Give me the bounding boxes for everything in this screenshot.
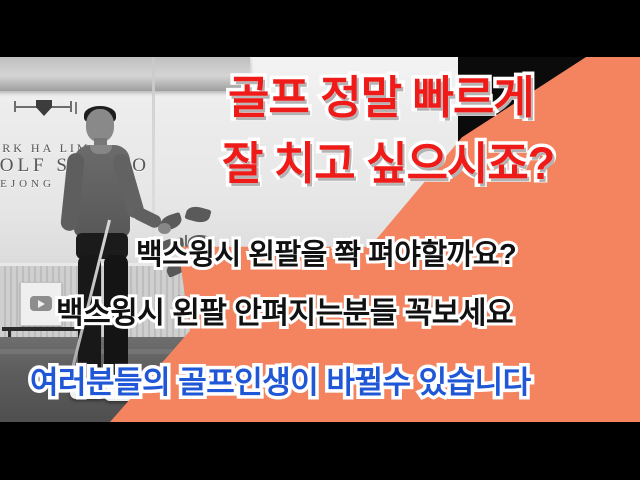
headline-line-1: 골프 정말 빠르게 (228, 75, 534, 120)
subline-question: 백스윙시 왼팔을 쫙 펴야할까요? (136, 241, 516, 270)
video-thumbnail: PARK HA LIM GOLF STUDIO SEJONG (0, 0, 640, 480)
letterbox-bar-top (0, 0, 640, 57)
text-overlay-layer: 골프 정말 빠르게 잘 치고 싶으시죠? 백스윙시 왼팔을 쫙 펴야할까요? 백… (0, 0, 640, 480)
letterbox-bar-bottom (0, 422, 640, 480)
subline-callout: 백스윙시 왼팔 안펴지는분들 꼭보세요 (56, 299, 513, 329)
subline-promise: 여러분들의 골프인생이 바뀔수 있습니다 (30, 367, 531, 398)
headline-line-2: 잘 치고 싶으시죠? (222, 141, 554, 186)
